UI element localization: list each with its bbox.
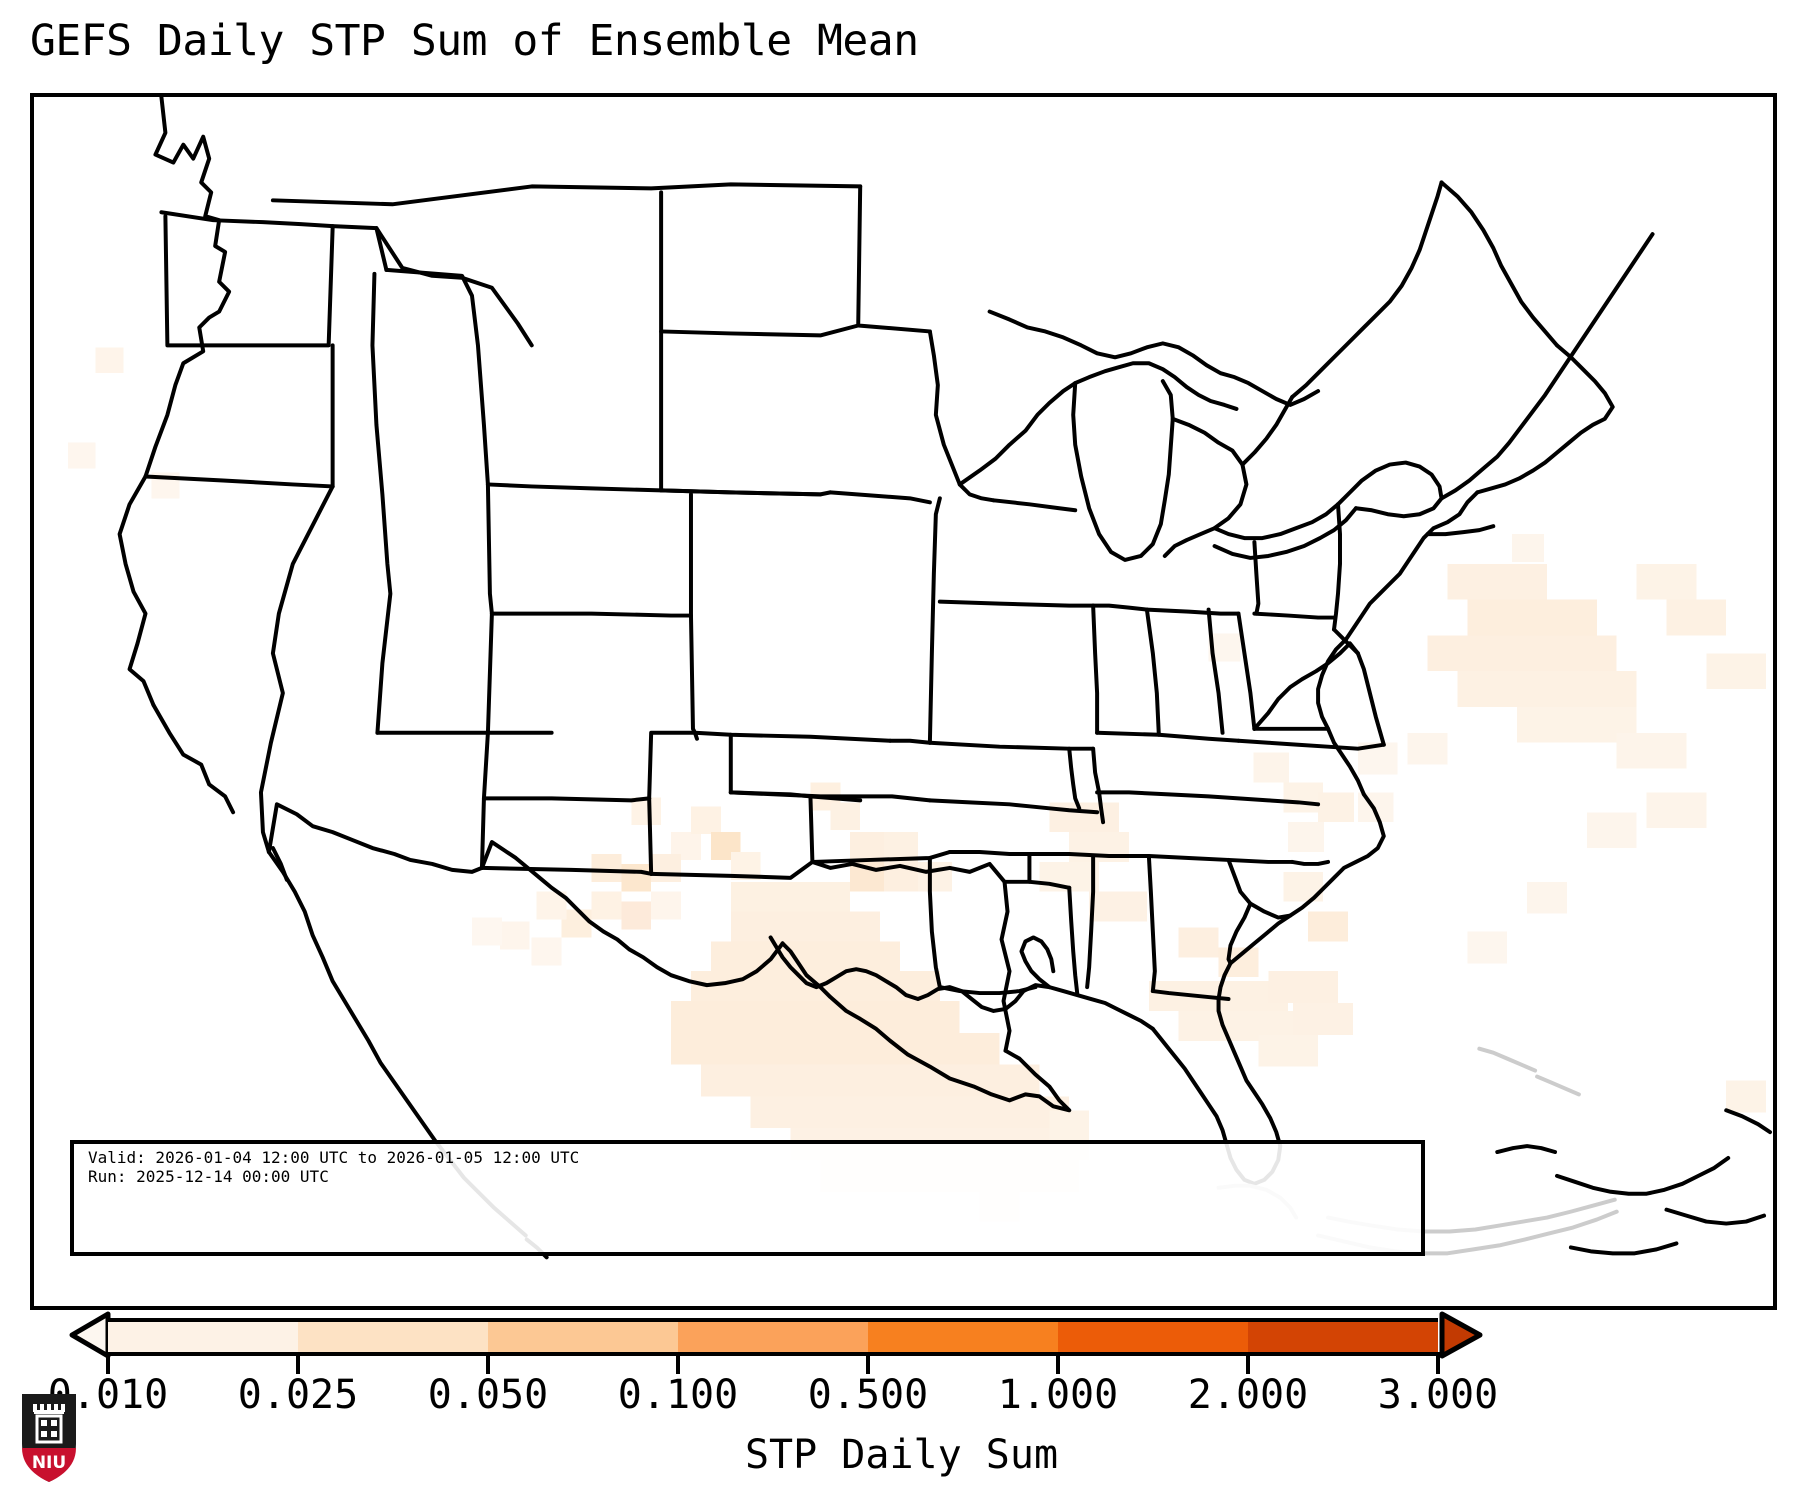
map-frame: Valid: 2026-01-04 12:00 UTC to 2026-01-0… — [30, 93, 1777, 1310]
colorbar-ticks — [0, 1352, 1803, 1374]
colorbar-tick-labels: 0.0100.0250.0500.1000.5001.0002.0003.000 — [0, 1372, 1803, 1422]
run-time-line: Run: 2025-12-14 00:00 UTC — [88, 1167, 1407, 1186]
colorbar[interactable]: 0.0100.0250.0500.1000.5001.0002.0003.000… — [0, 1310, 1803, 1500]
page-title: GEFS Daily STP Sum of Ensemble Mean — [30, 16, 919, 66]
colorbar-axis-label: STP Daily Sum — [0, 1432, 1803, 1478]
colorbar-tick-2 — [486, 1352, 490, 1374]
colorbar-tick-label-4: 0.500 — [808, 1372, 928, 1418]
colorbar-segment-0 — [108, 1322, 298, 1352]
niu-logo: NIU — [18, 1392, 80, 1484]
colorbar-tick-1 — [296, 1352, 300, 1374]
colorbar-tick-5 — [1056, 1352, 1060, 1374]
colorbar-segment-1 — [298, 1322, 488, 1352]
forecast-info-box: Valid: 2026-01-04 12:00 UTC to 2026-01-0… — [70, 1140, 1425, 1256]
colorbar-tick-6 — [1246, 1352, 1250, 1374]
colorbar-tick-0 — [106, 1352, 110, 1374]
colorbar-tick-3 — [676, 1352, 680, 1374]
colorbar-over-arrow — [1442, 1314, 1480, 1356]
colorbar-tick-label-6: 2.000 — [1188, 1372, 1308, 1418]
valid-time-line: Valid: 2026-01-04 12:00 UTC to 2026-01-0… — [88, 1148, 1407, 1167]
colorbar-tick-label-7: 3.000 — [1378, 1372, 1498, 1418]
colorbar-segment-6 — [1248, 1322, 1438, 1352]
colorbar-gradient[interactable] — [108, 1318, 1438, 1356]
colorbar-tick-7 — [1436, 1352, 1440, 1374]
colorbar-tick-label-5: 1.000 — [998, 1372, 1118, 1418]
colorbar-segment-5 — [1058, 1322, 1248, 1352]
colorbar-tick-4 — [866, 1352, 870, 1374]
colorbar-segment-2 — [488, 1322, 678, 1352]
colorbar-tick-label-2: 0.050 — [428, 1372, 548, 1418]
colorbar-segment-3 — [678, 1322, 868, 1352]
colorbar-segment-4 — [868, 1322, 1058, 1352]
conus-basemap — [34, 97, 1773, 1306]
colorbar-under-arrow — [72, 1314, 108, 1356]
colorbar-tick-label-1: 0.025 — [238, 1372, 358, 1418]
niu-logo-text: NIU — [32, 1453, 66, 1473]
colorbar-tick-label-3: 0.100 — [618, 1372, 738, 1418]
